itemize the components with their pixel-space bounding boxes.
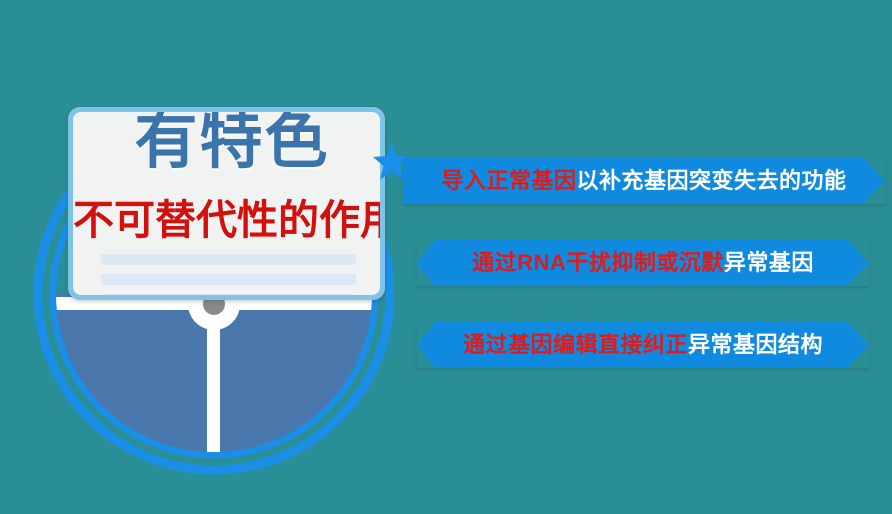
ribbon-2-rest: 异常基因 (724, 250, 814, 275)
ribbon-2-left-notch (417, 240, 435, 286)
ribbon-banner-3[interactable]: 通过基因编辑直接纠正异常基因结构 (417, 322, 869, 368)
screen-inner: 有特色 不可替代性的作用 (73, 112, 380, 295)
screen-subline: 不可替代性的作用 (73, 198, 380, 243)
ribbon-3-rest: 异常基因结构 (688, 332, 823, 357)
ribbon-1-emphasis: 导入正常基因 (441, 168, 576, 193)
infographic-canvas: 有特色 不可替代性的作用 导入正常基因以补充基因突变失去的功能 通过RNA干扰抑… (0, 0, 892, 514)
ribbon-2-right-notch (847, 240, 869, 286)
ribbon-banner-1-text: 导入正常基因以补充基因突变失去的功能 (441, 170, 846, 192)
ribbon-3-right-notch (847, 322, 869, 368)
screen-placeholder-line (101, 274, 356, 285)
badge-divider-vertical (207, 310, 220, 486)
ribbon-banner-1[interactable]: 导入正常基因以补充基因突变失去的功能 (403, 158, 885, 204)
ribbon-1-right-notch (863, 158, 885, 204)
ribbon-3-left-notch (417, 322, 435, 368)
ribbon-banner-2[interactable]: 通过RNA干扰抑制或沉默异常基因 (417, 240, 869, 286)
ribbon-3-emphasis: 通过基因编辑直接纠正 (463, 332, 688, 357)
ribbon-banner-2-text: 通过RNA干扰抑制或沉默异常基因 (472, 252, 814, 274)
ribbon-banner-3-text: 通过基因编辑直接纠正异常基因结构 (463, 334, 823, 356)
screen-placeholder-line (101, 254, 356, 265)
screen-panel: 有特色 不可替代性的作用 (68, 107, 385, 300)
screen-headline: 有特色 (87, 112, 377, 174)
screen-placeholder-line (101, 294, 356, 295)
ribbon-2-emphasis: 通过RNA干扰抑制或沉默 (472, 250, 724, 275)
ribbon-1-rest: 以补充基因突变失去的功能 (577, 168, 847, 193)
